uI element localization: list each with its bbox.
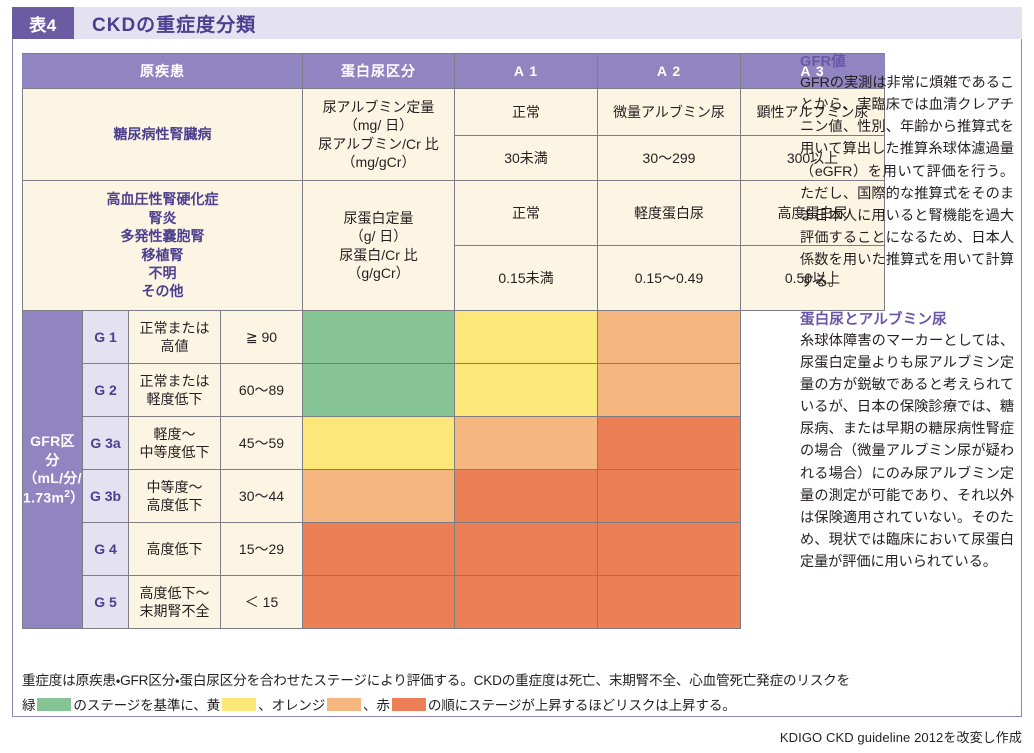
level-name-a2-other: 軽度蛋白尿	[598, 181, 741, 246]
gfr-description: 正常または軽度低下	[129, 364, 221, 417]
gfr-code: G 3a	[83, 417, 129, 470]
gfr-description: 高度低下	[129, 523, 221, 576]
gfr-row-g5: G 5高度低下〜末期腎不全＜ 15	[23, 576, 885, 629]
table-title-bar: 表4 CKDの重症度分類	[12, 7, 1022, 39]
level-name-a2-diabetic: 微量アルブミン尿	[598, 89, 741, 136]
gfr-code: G 4	[83, 523, 129, 576]
footnote-line-2: 緑のステージを基準に、黄、オレンジ、赤の順にステージが上昇するほどリスクは上昇す…	[22, 693, 1012, 718]
gfr-value: ≧ 90	[221, 311, 303, 364]
gfr-row-g3a: G 3a軽度〜中等度低下45〜59	[23, 417, 885, 470]
table-page: 表4 CKDの重症度分類 原疾患 蛋白尿区分 A 1 A 2 A 3 糖尿病性腎…	[0, 0, 1034, 753]
ckd-severity-table: 原疾患 蛋白尿区分 A 1 A 2 A 3 糖尿病性腎臓病 尿アルブミン定量（m…	[22, 53, 885, 629]
legend-swatch-yellow	[222, 698, 256, 711]
level-value-a2-other: 0.15〜0.49	[598, 246, 741, 311]
risk-cell-g5-a2	[455, 576, 598, 629]
risk-cell-g1-a1	[303, 311, 455, 364]
risk-cell-g2-a1	[303, 364, 455, 417]
table-row: 高血圧性腎硬化症腎炎多発性嚢胞腎移植腎不明その他 尿蛋白定量（g/ 日）尿蛋白/…	[23, 181, 885, 246]
risk-cell-g3a-a1	[303, 417, 455, 470]
legend-label-orange: 、オレンジ	[258, 698, 325, 713]
gfr-value: ＜ 15	[221, 576, 303, 629]
risk-cell-g1-a2	[455, 311, 598, 364]
severity-table-wrap: 原疾患 蛋白尿区分 A 1 A 2 A 3 糖尿病性腎臓病 尿アルブミン定量（m…	[22, 53, 788, 629]
sidebar-heading-proteinuria: 蛋白尿とアルブミン尿	[800, 308, 1014, 329]
col-header-disease: 原疾患	[23, 54, 303, 89]
col-header-a1: A 1	[455, 54, 598, 89]
legend-tail: の順にステージが上昇するほどリスクは上昇する。	[428, 698, 736, 713]
legend-swatch-red	[392, 698, 426, 711]
risk-cell-g3a-a3	[598, 417, 741, 470]
level-value-a1-diabetic: 30未満	[455, 136, 598, 181]
risk-cell-g1-a3	[598, 311, 741, 364]
gfr-description: 高度低下〜末期腎不全	[129, 576, 221, 629]
gfr-code: G 3b	[83, 470, 129, 523]
gfr-value: 30〜44	[221, 470, 303, 523]
gfr-description: 中等度〜高度低下	[129, 470, 221, 523]
legend-swatch-green	[37, 698, 71, 711]
sidebar-body-gfr: GFRの実測は非常に煩雑であることから、実臨床では血清クレアチニン値、性別、年齢…	[800, 72, 1014, 294]
gfr-row-g2: G 2正常または軽度低下60〜89	[23, 364, 885, 417]
legend-label-yellow: のステージを基準に、黄	[73, 698, 220, 713]
risk-cell-g3b-a1	[303, 470, 455, 523]
disease-label-diabetic: 糖尿病性腎臓病	[23, 89, 303, 181]
col-header-a2: A 2	[598, 54, 741, 89]
gfr-row-g1: GFR区分（mL/分/1.73m2）G 1正常または高値≧ 90	[23, 311, 885, 364]
gfr-row-g3b: G 3b中等度〜高度低下30〜44	[23, 470, 885, 523]
risk-cell-g4-a1	[303, 523, 455, 576]
gfr-section: GFR区分（mL/分/1.73m2）G 1正常または高値≧ 90G 2正常または…	[23, 311, 885, 629]
page-title: CKDの重症度分類	[74, 7, 1022, 39]
risk-cell-g3a-a2	[455, 417, 598, 470]
gfr-value: 60〜89	[221, 364, 303, 417]
risk-cell-g3b-a3	[598, 470, 741, 523]
legend-label-red: 、赤	[363, 698, 390, 713]
sidebar-notes: GFR値 GFRの実測は非常に煩雑であることから、実臨床では血清クレアチニン値、…	[800, 50, 1014, 587]
risk-cell-g2-a3	[598, 364, 741, 417]
level-value-a1-other: 0.15未満	[455, 246, 598, 311]
level-value-a2-diabetic: 30〜299	[598, 136, 741, 181]
sidebar-heading-gfr: GFR値	[800, 50, 1014, 71]
risk-cell-g4-a2	[455, 523, 598, 576]
proteinuria-definition-other: 尿蛋白定量（g/ 日）尿蛋白/Cr 比（g/gCr）	[303, 181, 455, 311]
gfr-code: G 1	[83, 311, 129, 364]
gfr-description: 軽度〜中等度低下	[129, 417, 221, 470]
table-number-badge: 表4	[12, 7, 74, 39]
footnote-line-1: 重症度は原疾患・GFR区分・蛋白尿区分を合わせたステージにより評価する。CKDの…	[22, 668, 1012, 693]
gfr-value: 45〜59	[221, 417, 303, 470]
gfr-row-g4: G 4高度低下15〜29	[23, 523, 885, 576]
gfr-section-label: GFR区分（mL/分/1.73m2）	[23, 311, 83, 629]
proteinuria-definition-diabetic: 尿アルブミン定量（mg/ 日）尿アルブミン/Cr 比（mg/gCr）	[303, 89, 455, 181]
risk-cell-g5-a3	[598, 576, 741, 629]
sidebar-body-proteinuria: 糸球体障害のマーカーとしては、尿蛋白定量よりも尿アルブミン定量の方が鋭敏であると…	[800, 330, 1014, 574]
disease-label-other: 高血圧性腎硬化症腎炎多発性嚢胞腎移植腎不明その他	[23, 181, 303, 311]
table-row: 糖尿病性腎臓病 尿アルブミン定量（mg/ 日）尿アルブミン/Cr 比（mg/gC…	[23, 89, 885, 136]
source-credit: KDIGO CKD guideline 2012を改変し作成	[780, 727, 1022, 746]
risk-cell-g2-a2	[455, 364, 598, 417]
risk-cell-g3b-a2	[455, 470, 598, 523]
level-name-a1-other: 正常	[455, 181, 598, 246]
risk-cell-g4-a3	[598, 523, 741, 576]
legend-label-green: 緑	[22, 698, 35, 713]
table-header-row: 原疾患 蛋白尿区分 A 1 A 2 A 3	[23, 54, 885, 89]
level-name-a1-diabetic: 正常	[455, 89, 598, 136]
gfr-description: 正常または高値	[129, 311, 221, 364]
col-header-proteinuria: 蛋白尿区分	[303, 54, 455, 89]
gfr-code: G 2	[83, 364, 129, 417]
risk-cell-g5-a1	[303, 576, 455, 629]
footnote: 重症度は原疾患・GFR区分・蛋白尿区分を合わせたステージにより評価する。CKDの…	[22, 668, 1012, 718]
gfr-value: 15〜29	[221, 523, 303, 576]
gfr-code: G 5	[83, 576, 129, 629]
legend-swatch-orange	[327, 698, 361, 711]
